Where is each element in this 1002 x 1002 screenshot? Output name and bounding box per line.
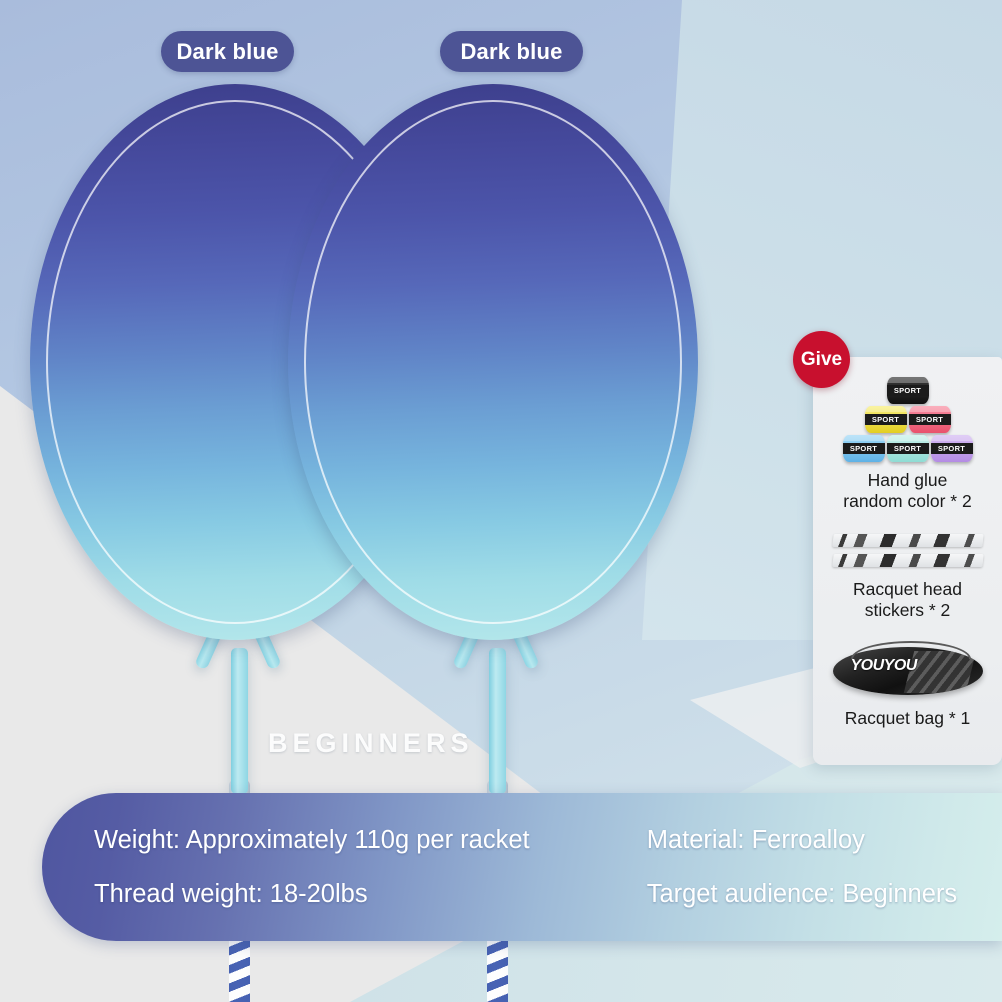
- bag-brand-logo: YOUYOU: [851, 657, 917, 675]
- spec-row-1: Weight: Approximately 110g per racket Ma…: [94, 813, 1002, 867]
- product-image-canvas: BEGINNERS Dark blue Dark blue Give SPORT…: [0, 0, 1002, 1002]
- racket-right-frame-inner: [304, 100, 682, 624]
- spec-material: Material: Ferroalloy: [647, 826, 1002, 855]
- grip-tape-band-label-1: SPORT: [887, 385, 929, 396]
- color-label-left-text: Dark blue: [176, 39, 278, 65]
- grip-tape-band-label-6: SPORT: [931, 443, 973, 454]
- beginners-watermark: BEGINNERS: [268, 728, 474, 759]
- gift-caption-hand-glue: Hand glue random color * 2: [843, 470, 971, 513]
- give-badge: Give: [793, 331, 850, 388]
- grip-tape-band-label-5: SPORT: [887, 443, 929, 454]
- racket-right-shaft: [489, 648, 506, 794]
- spec-target-audience: Target audience: Beginners: [647, 880, 1002, 909]
- grip-tape-cyan: SPORT: [887, 435, 929, 462]
- racket-right-head: [288, 84, 698, 640]
- gift-item-hand-glue: SPORT SPORT SPORT SPORT SPORT SPORT Ha: [813, 373, 1002, 513]
- spec-thread-weight: Thread weight: 18-20lbs: [94, 880, 647, 909]
- grip-tape-yellow: SPORT: [865, 406, 907, 433]
- gift-item-racquet-bag: YOUYOU Racquet bag * 1: [813, 633, 1002, 729]
- gift-caption-head-stickers: Racquet head stickers * 2: [853, 579, 962, 622]
- gift-caption-racquet-bag: Racquet bag * 1: [845, 708, 971, 729]
- spec-weight: Weight: Approximately 110g per racket: [94, 826, 647, 855]
- color-label-left: Dark blue: [161, 31, 294, 72]
- racket-right-frame: [288, 84, 698, 640]
- grip-tape-stack-icon: SPORT SPORT SPORT SPORT SPORT SPORT: [843, 377, 973, 465]
- gift-item-head-stickers: Racquet head stickers * 2: [813, 525, 1002, 622]
- sticker-2: [832, 554, 983, 567]
- sticker-1: [832, 534, 983, 547]
- spec-row-2: Thread weight: 18-20lbs Target audience:…: [94, 867, 1002, 921]
- spec-banner: Weight: Approximately 110g per racket Ma…: [42, 793, 1002, 941]
- racket-right-grip-wrap: [487, 940, 508, 1002]
- grip-tape-pink: SPORT: [909, 406, 951, 433]
- racquet-head-sticker-icon: [833, 527, 983, 574]
- color-label-right-text: Dark blue: [460, 39, 562, 65]
- racquet-bag-icon: YOUYOU: [829, 637, 987, 703]
- grip-tape-black: SPORT: [887, 377, 929, 404]
- grip-tape-blue: SPORT: [843, 435, 885, 462]
- color-label-right: Dark blue: [440, 31, 583, 72]
- gift-panel: SPORT SPORT SPORT SPORT SPORT SPORT Ha: [813, 357, 1002, 765]
- grip-tape-band-label-2: SPORT: [865, 414, 907, 425]
- grip-tape-purple: SPORT: [931, 435, 973, 462]
- give-badge-label: Give: [801, 349, 842, 371]
- grip-tape-band-label-3: SPORT: [909, 414, 951, 425]
- grip-tape-band-label-4: SPORT: [843, 443, 885, 454]
